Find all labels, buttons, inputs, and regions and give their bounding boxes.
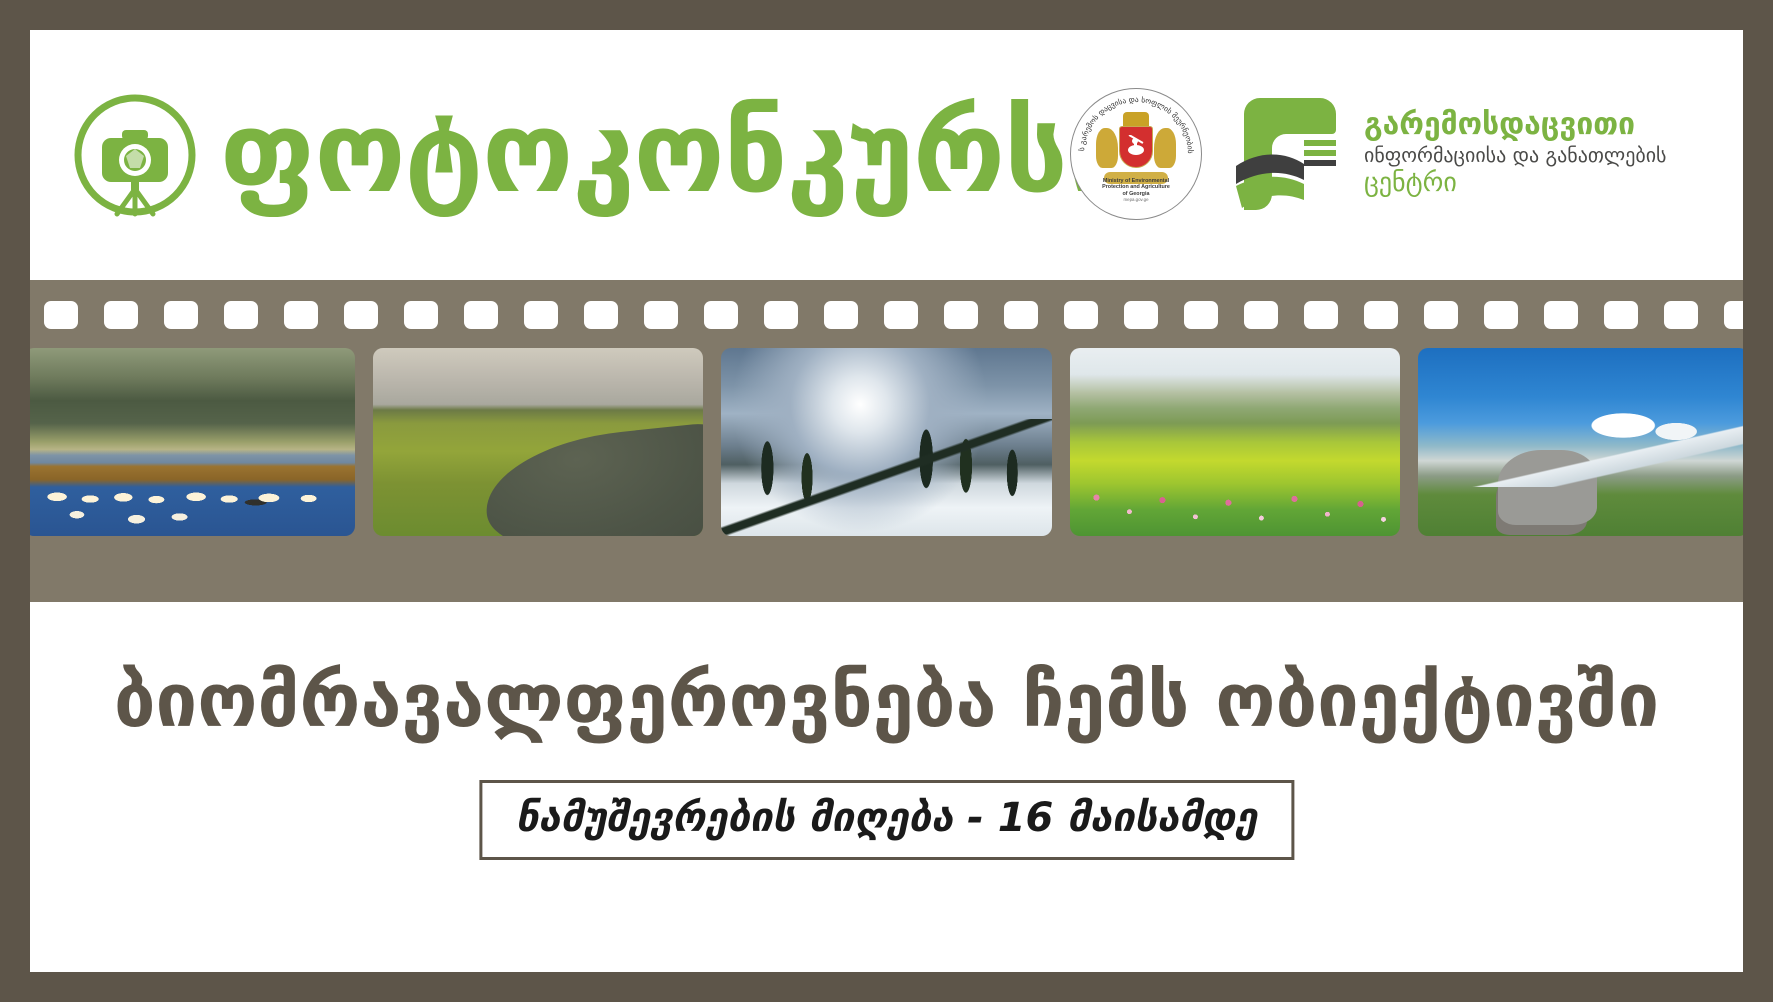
film-perforation [224, 301, 258, 329]
org-logo-line1: გარემოსდაცვითი [1364, 108, 1696, 142]
seal-caption-url: mepa.gov.ge [1084, 197, 1188, 204]
contest-title: ფოტოკონკურსი [220, 78, 1120, 228]
seal-shield [1119, 126, 1153, 168]
film-perforation [1544, 301, 1578, 329]
film-perforation [824, 301, 858, 329]
film-perforation [1484, 301, 1518, 329]
seal-caption-line2: Protection and Agriculture [1084, 184, 1188, 191]
org-logo-wordmark: გარემოსდაცვითი ინფორმაციისა და განათლები… [1364, 108, 1696, 198]
poster-footer: ბიომრავალფეროვნება ჩემს ობიექტივში ნამუშ… [30, 602, 1743, 972]
film-perforation [884, 301, 918, 329]
main-theme-title: ბიომრავალფეროვნება ჩემს ობიექტივში [30, 652, 1743, 750]
film-perforation [1424, 301, 1458, 329]
film-perforation [1184, 301, 1218, 329]
film-perforation [524, 301, 558, 329]
film-perforation [944, 301, 978, 329]
film-perforation [464, 301, 498, 329]
seal-lion-right [1154, 128, 1176, 168]
ministry-seal: საქართველოს გარემოს დაცვისა და სოფლის მე… [1070, 88, 1202, 220]
seal-crown-icon [1123, 112, 1149, 126]
filmstrip-perforations-top [30, 294, 1743, 336]
photo-horse-on-mountain [1418, 348, 1743, 536]
film-perforation [1064, 301, 1098, 329]
film-perforation [284, 301, 318, 329]
film-perforation [1664, 301, 1698, 329]
filmstrip-photo-row [30, 348, 1743, 536]
film-perforation [104, 301, 138, 329]
film-perforation [1304, 301, 1338, 329]
filmstrip [30, 280, 1743, 602]
poster-header: ფოტოკონკურსი საქართველოს გარემოს დაცვისა… [30, 30, 1743, 280]
st-george-rider-icon [1124, 135, 1148, 161]
film-perforation [404, 301, 438, 329]
film-perforation [1724, 301, 1743, 329]
photo-snowy-mountain-road [721, 348, 1052, 536]
deadline-text: ნამუშევრების მიღება - 16 მაისამდე [516, 793, 1257, 843]
poster-root: ფოტოკონკურსი საქართველოს გარემოს დაცვისა… [0, 0, 1773, 1002]
seal-caption-line1: Ministry of Environmental [1084, 178, 1188, 185]
poster-canvas: ფოტოკონკურსი საქართველოს გარემოს დაცვისა… [30, 30, 1743, 972]
org-logo-line2: ინფორმაციისა და განათლების [1364, 142, 1696, 168]
camera-tripod-in-circle-icon [70, 90, 200, 220]
film-perforation [1364, 301, 1398, 329]
film-perforation [764, 301, 798, 329]
photo-pelicans-on-lake [30, 348, 355, 536]
film-perforation [164, 301, 198, 329]
seal-caption-line3: of Georgia [1084, 191, 1188, 198]
org-logo-mark-icon [1226, 88, 1354, 216]
seal-coat-of-arms [1096, 112, 1176, 180]
film-perforation [1124, 301, 1158, 329]
film-perforation [644, 301, 678, 329]
film-perforation [584, 301, 618, 329]
film-perforation [1244, 301, 1278, 329]
org-logo-line3: ცენტრი [1364, 168, 1696, 198]
film-perforation [44, 301, 78, 329]
org-logo: გარემოსდაცვითი ინფორმაციისა და განათლები… [1226, 86, 1696, 222]
seal-caption: Ministry of Environmental Protection and… [1070, 178, 1202, 204]
photo-wetland-river [373, 348, 704, 536]
film-perforation [1004, 301, 1038, 329]
seal-lion-left [1096, 128, 1118, 168]
film-perforation [1604, 301, 1638, 329]
film-perforation [704, 301, 738, 329]
photo-alpine-flower-meadow [1070, 348, 1401, 536]
deadline-box: ნამუშევრების მიღება - 16 მაისამდე [479, 780, 1294, 860]
film-perforation [344, 301, 378, 329]
